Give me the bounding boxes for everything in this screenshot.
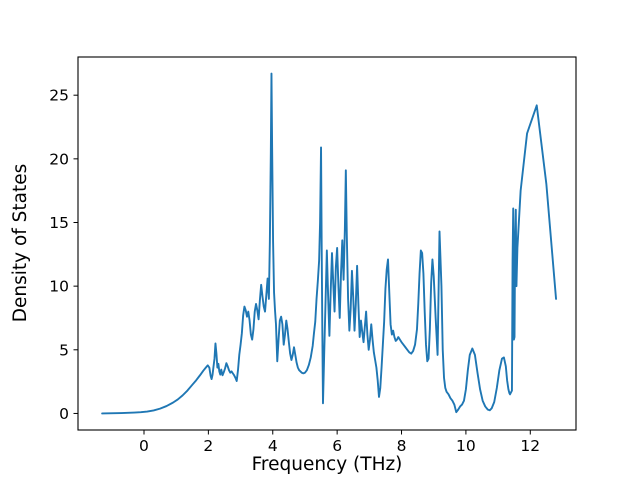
- dos-chart-svg: 024681012 0510152025 Frequency (THz) Den…: [0, 0, 640, 480]
- x-tick-label: 0: [139, 437, 149, 455]
- x-tick-label: 2: [203, 437, 213, 455]
- y-tick-label: 15: [49, 214, 69, 232]
- y-tick-label: 20: [49, 150, 69, 168]
- x-tick-label: 10: [456, 437, 476, 455]
- y-axis-ticks: 0510152025: [49, 87, 78, 423]
- y-tick-label: 10: [49, 278, 69, 296]
- y-tick-label: 25: [49, 87, 69, 105]
- x-tick-label: 12: [520, 437, 540, 455]
- x-tick-label: 8: [397, 437, 407, 455]
- matplotlib-figure: 024681012 0510152025 Frequency (THz) Den…: [0, 0, 640, 480]
- y-tick-label: 5: [59, 341, 69, 359]
- axes-background: [78, 57, 576, 430]
- x-axis-label: Frequency (THz): [252, 454, 403, 475]
- x-tick-label: 6: [332, 437, 342, 455]
- y-axis-label: Density of States: [10, 164, 31, 323]
- y-tick-label: 0: [59, 405, 69, 423]
- x-axis-ticks: 024681012: [139, 430, 540, 455]
- x-tick-label: 4: [268, 437, 278, 455]
- plot-area: 024681012 0510152025 Frequency (THz) Den…: [0, 0, 640, 480]
